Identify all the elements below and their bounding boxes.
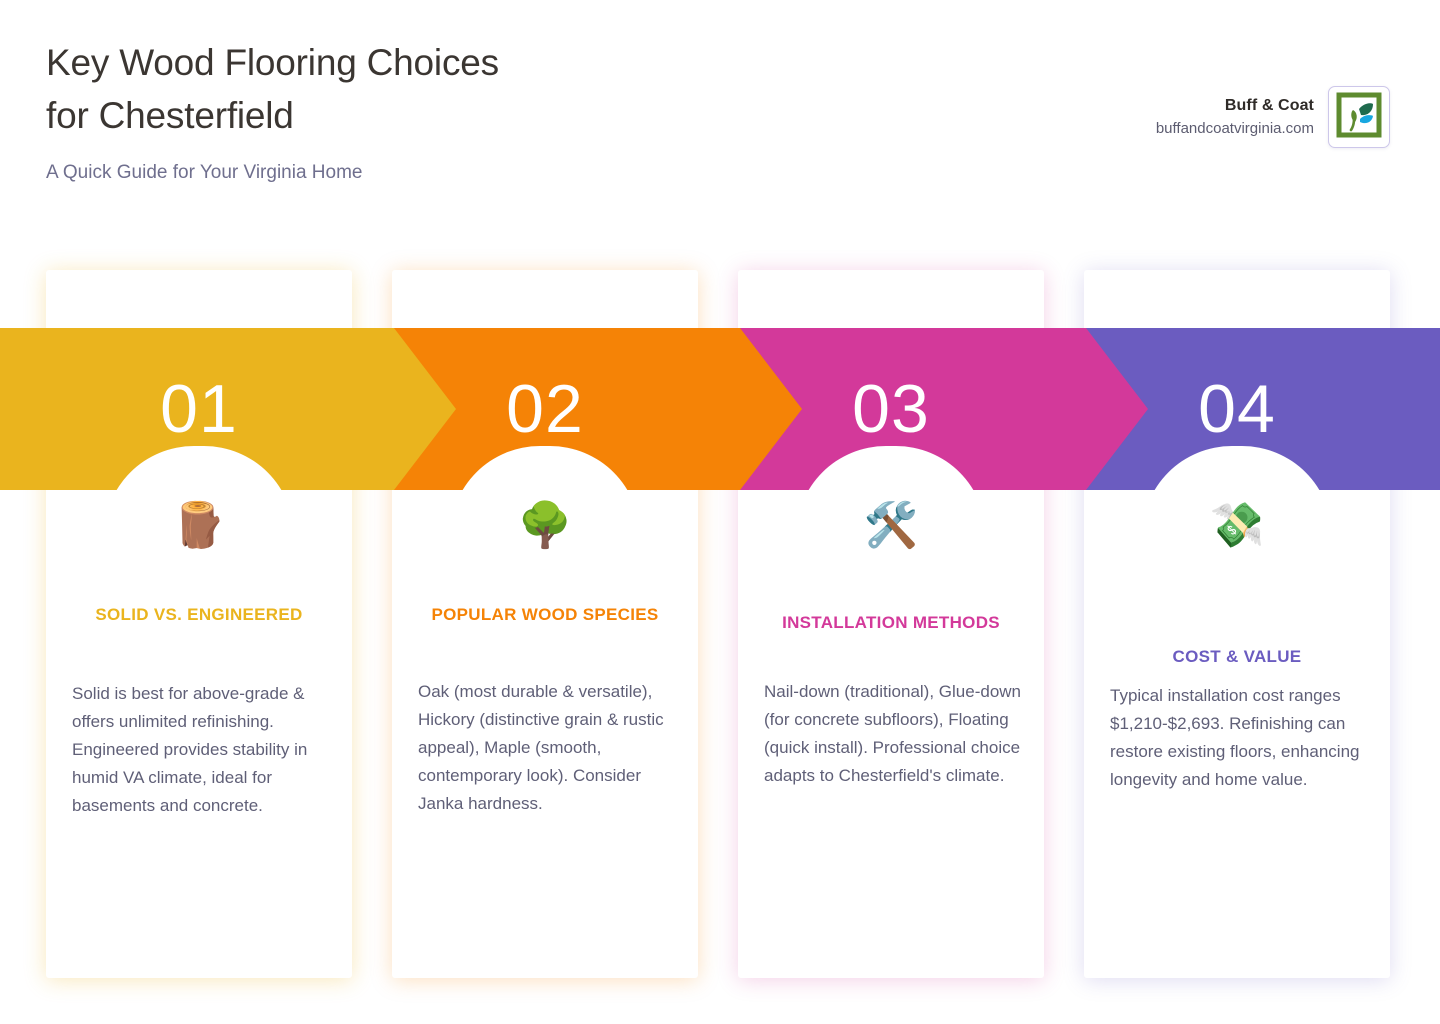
money-with-wings-icon: 💸 [1084, 500, 1390, 552]
hammer-and-wrench-icon: 🛠️ [738, 500, 1044, 552]
step-card-body: Nail-down (traditional), Glue-down (for … [764, 678, 1022, 790]
step-card-body: Typical installation cost ranges $1,210-… [1110, 682, 1368, 794]
brand-url: buffandcoatvirginia.com [1156, 120, 1314, 139]
header: Key Wood Flooring Choices for Chesterfie… [0, 0, 1440, 230]
brand-text: Buff & Coat buffandcoatvirginia.com [1156, 96, 1314, 139]
wood-log-icon: 🪵 [46, 500, 352, 552]
brand-block: Buff & Coat buffandcoatvirginia.com [1156, 86, 1390, 148]
step-card-body: Solid is best for above-grade & offers u… [72, 680, 330, 820]
step-card-body: Oak (most durable & versatile), Hickory … [418, 678, 676, 818]
brand-logo [1328, 86, 1390, 148]
step-card-title: SOLID VS. ENGINEERED [68, 600, 330, 630]
tree-icon: 🌳 [392, 500, 698, 552]
page-subtitle: A Quick Guide for Your Virginia Home [46, 160, 826, 186]
step-card-title: COST & VALUE [1106, 642, 1368, 672]
brand-name: Buff & Coat [1156, 96, 1314, 116]
step-card-title: POPULAR WOOD SPECIES [414, 600, 676, 630]
leaf-logo-icon [1336, 92, 1382, 143]
title-block: Key Wood Flooring Choices for Chesterfie… [46, 36, 826, 186]
infographic-page: Key Wood Flooring Choices for Chesterfie… [0, 0, 1440, 1024]
step-card-title: INSTALLATION METHODS [760, 608, 1022, 638]
page-title: Key Wood Flooring Choices for Chesterfie… [46, 36, 826, 142]
